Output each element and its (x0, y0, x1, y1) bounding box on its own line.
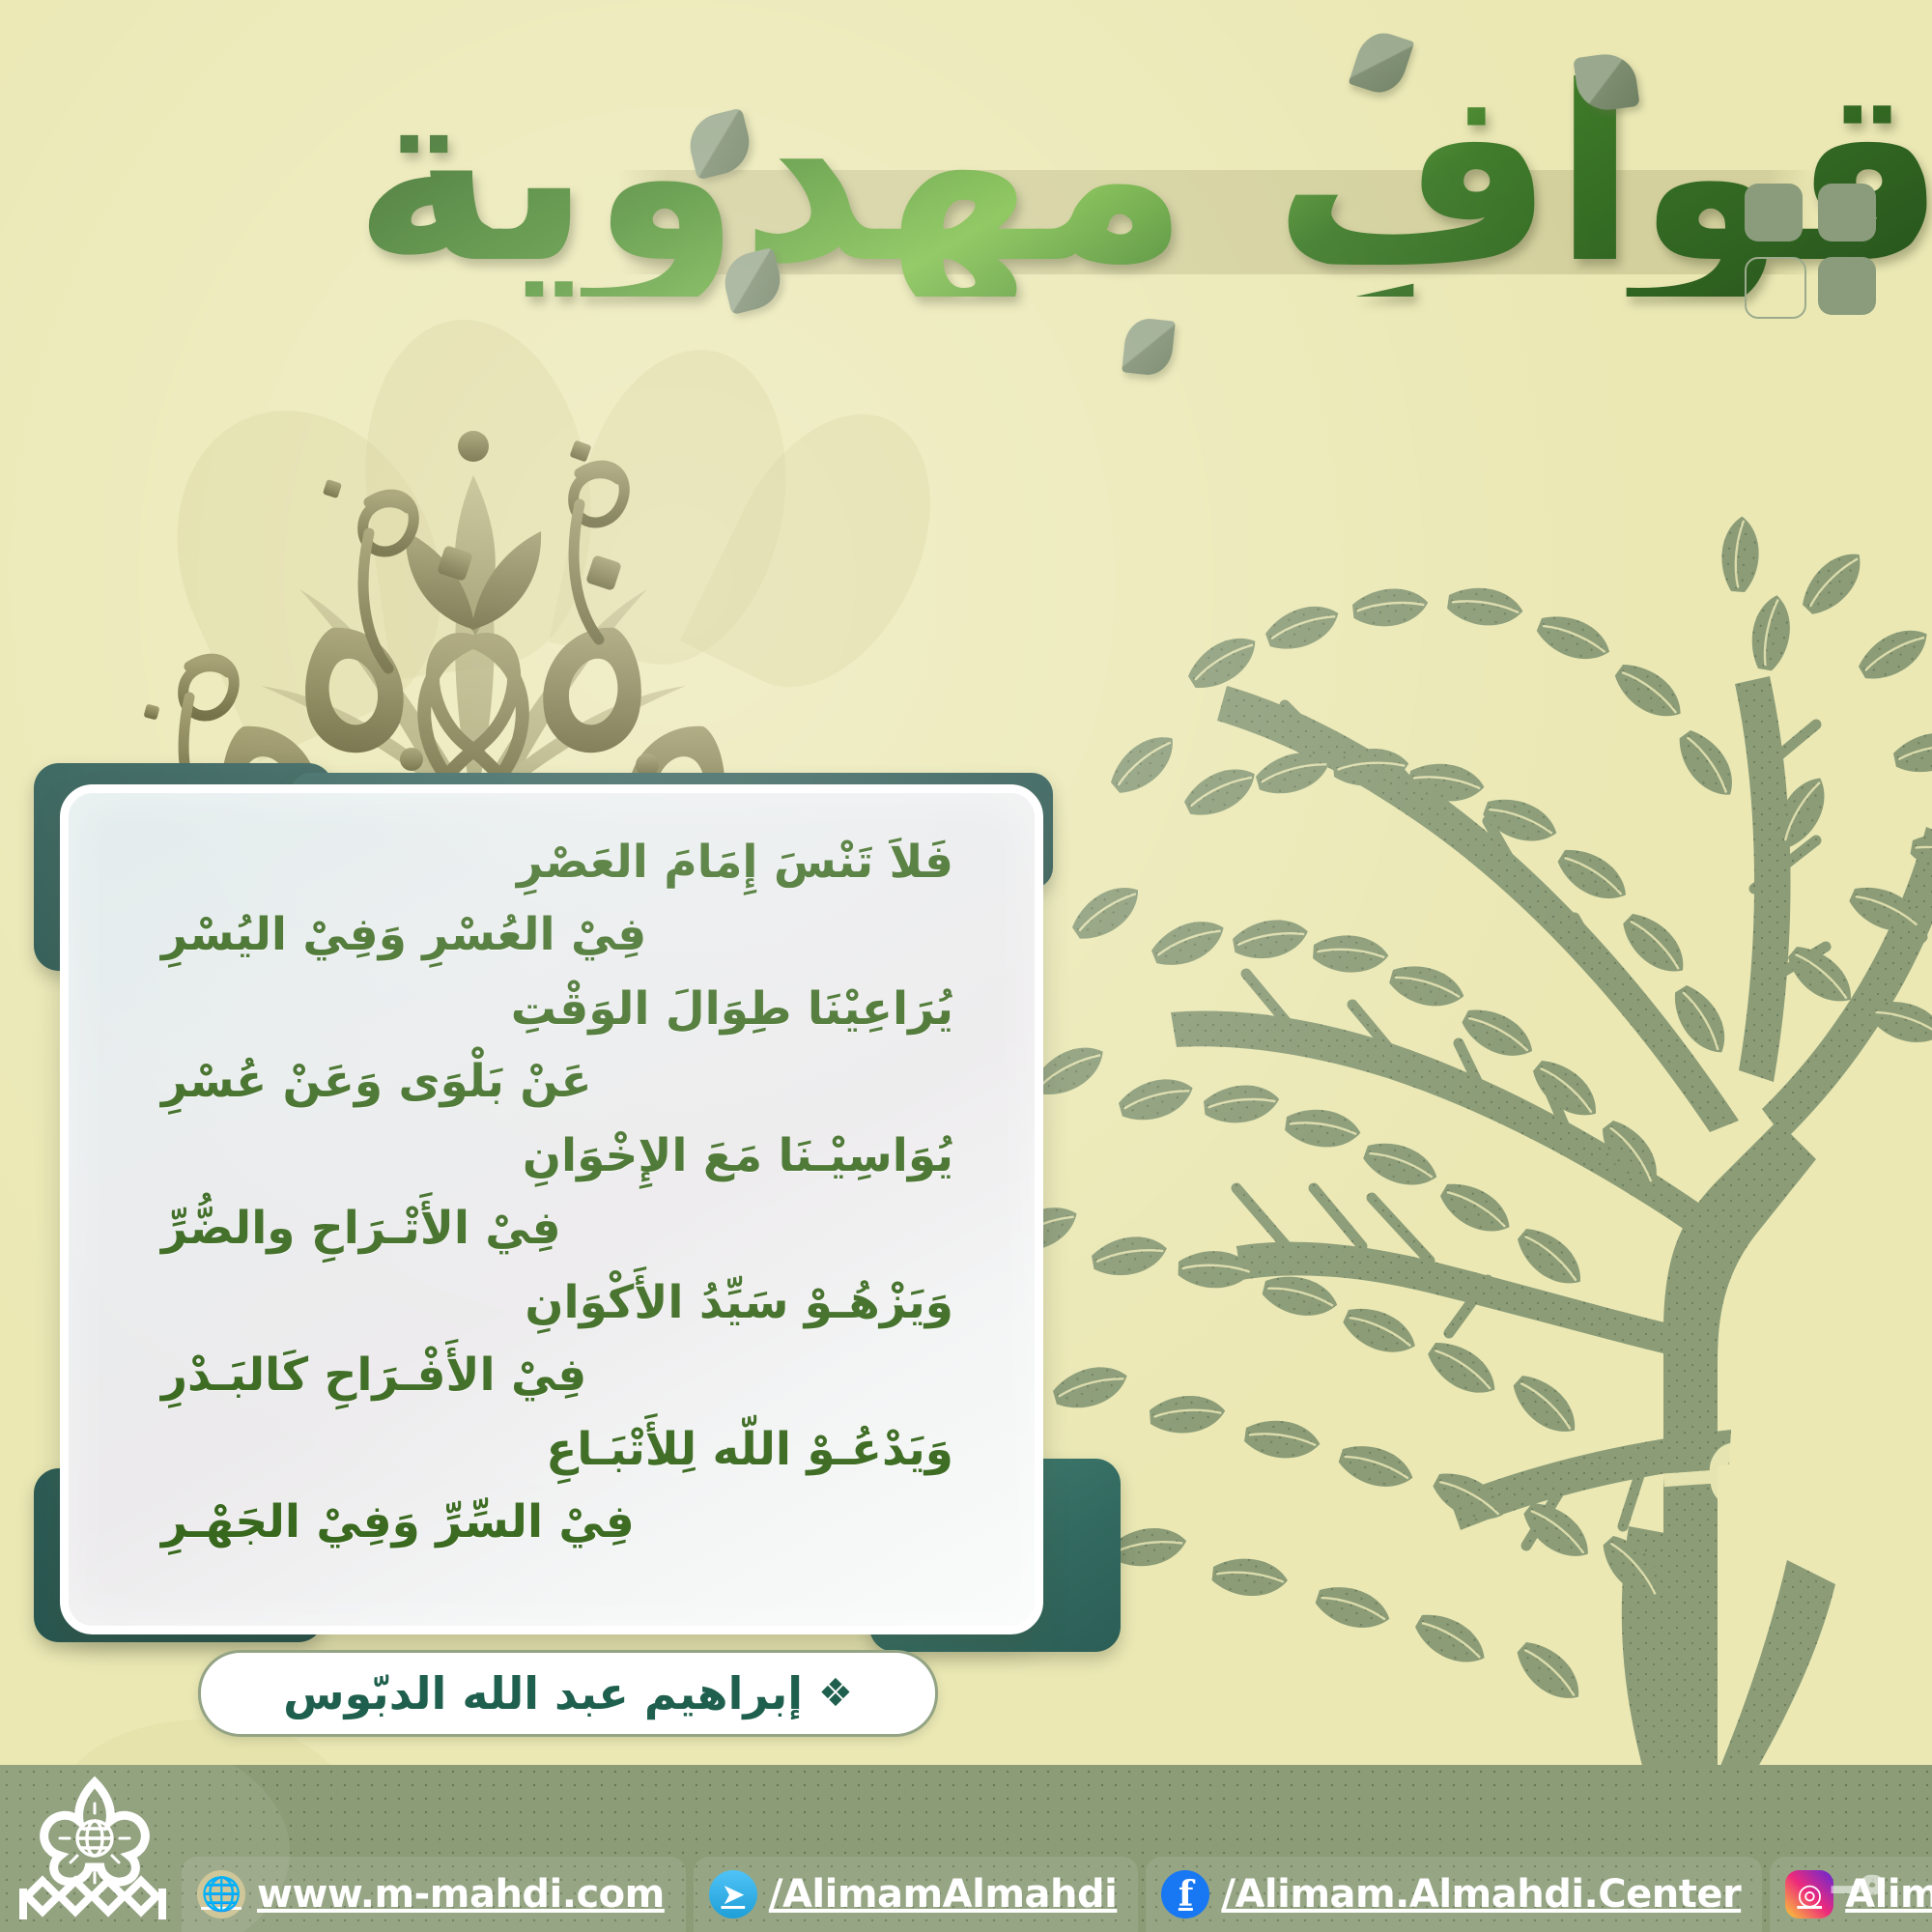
almahdi-center-logo (17, 1775, 172, 1925)
poem-card: فَلاَ تَنْسَ إِمَامَ العَصْرِ فِيْ العُس… (60, 784, 1043, 1634)
footer-bar: 🌐 www.m-mahdi.com ➤ /AlimamAlmahdi f /Al… (0, 1765, 1932, 1932)
ghost-swirl-4 (680, 381, 972, 722)
ghost-swirl-1 (129, 368, 489, 761)
author-pill: ❖ إبراهيم عبد الله الدبّوس (198, 1650, 938, 1737)
verse-line: عَنْ بَلْوَى وَعَنْ عُسْرِ (128, 1059, 975, 1104)
footer-link-label: www.m-mahdi.com (257, 1872, 665, 1917)
square-icon (1818, 184, 1876, 241)
verse-line: فِيْ العُسْرِ وَفِيْ اليُسْرِ (128, 912, 975, 957)
square-outline-icon (1745, 257, 1806, 319)
verse-line: يُوَاسِيْـنَا مَعَ الإِخْوَانِ (128, 1133, 975, 1179)
telegram-icon: ➤ (709, 1870, 757, 1918)
footer-links: 🌐 www.m-mahdi.com ➤ /AlimamAlmahdi f /Al… (182, 1765, 1932, 1932)
square-icon (1818, 257, 1876, 315)
poster-canvas: قوافٍ مهدوية (0, 0, 1932, 1932)
footer-link-telegram[interactable]: ➤ /AlimamAlmahdi (694, 1857, 1139, 1932)
facebook-icon: f (1161, 1870, 1209, 1918)
verse-line: يُرَاعِيْنَا طِوَالَ الوَقْتِ (128, 986, 975, 1032)
square-decoration-group (1745, 184, 1876, 315)
footer-link-label: /Alimam.Almahdi.Center (1221, 1872, 1741, 1917)
verse-line: وَيَزْهُـوْ سَيِّدُ الأَكْوَانِ (128, 1280, 975, 1325)
author-name-wrap: ❖ إبراهيم عبد الله الدبّوس (283, 1667, 853, 1719)
verse-line: فِيْ الأَفْـرَاحِ كَالبَـدْرِ (128, 1352, 975, 1398)
trunk-watermark: مهـ (1667, 1319, 1829, 1570)
author-name: إبراهيم عبد الله الدبّوس (283, 1667, 803, 1719)
diamond-bullet-icon: ❖ (818, 1671, 853, 1716)
verse-line: فِيْ الأَتْـرَاحِ والضُّرِّ (128, 1206, 975, 1251)
calligraphic-ornament (126, 386, 821, 802)
verse-line: فِيْ السِّرِّ وَفِيْ الجَهْـرِ (128, 1499, 975, 1545)
footer-link-facebook[interactable]: f /Alimam.Almahdi.Center (1146, 1857, 1762, 1932)
verse-line: فَلاَ تَنْسَ إِمَامَ العَصْرِ (128, 839, 975, 885)
square-icon (1745, 184, 1803, 241)
footer-link-website[interactable]: 🌐 www.m-mahdi.com (182, 1857, 686, 1932)
verse-line: وَيَدْعُـوْ اللّه لِلأَتْبَـاعِ (128, 1427, 975, 1472)
footer-corner-mark: مـ (1814, 1826, 1907, 1918)
page-title: قوافٍ مهدوية (354, 55, 1932, 297)
globe-icon: 🌐 (197, 1870, 245, 1918)
footer-link-label: /AlimamAlmahdi (769, 1872, 1118, 1917)
